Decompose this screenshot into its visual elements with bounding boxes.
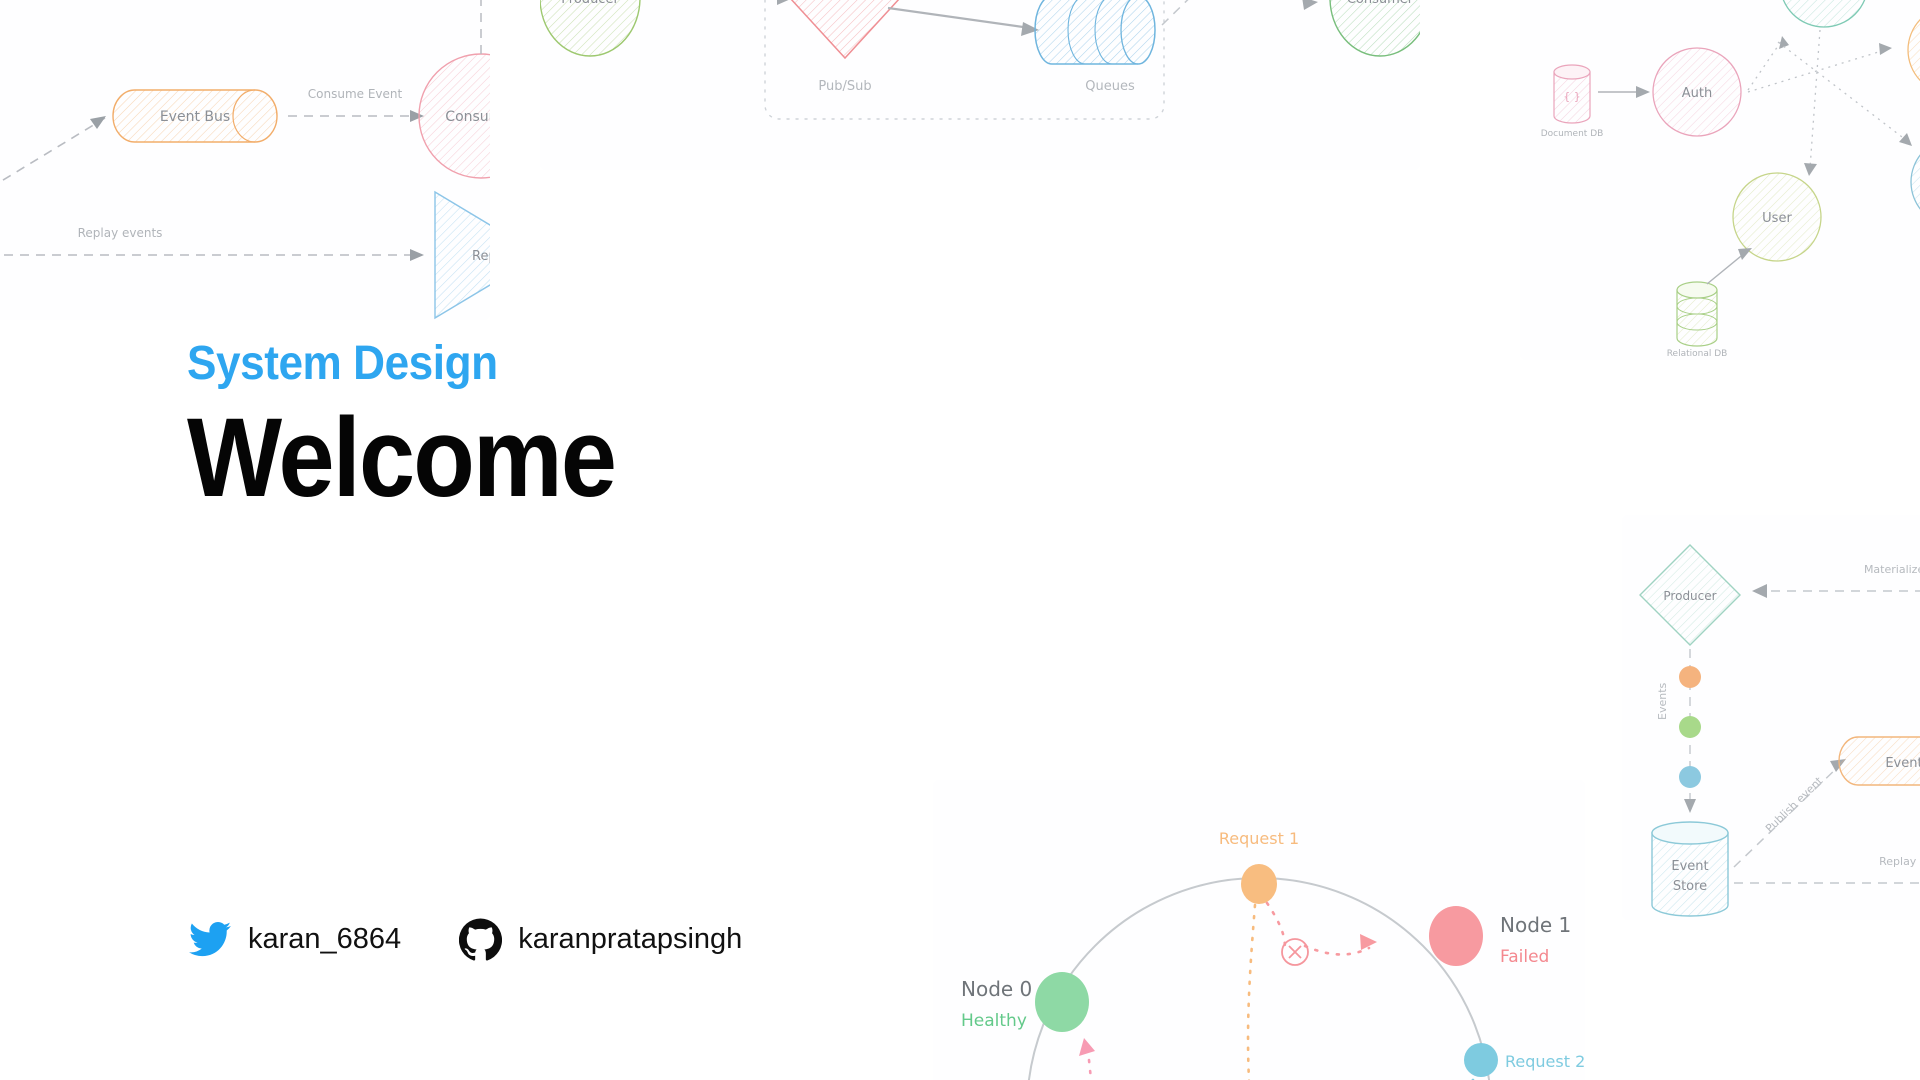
node-0-status: Healthy [961, 1011, 1027, 1031]
request-1-node: Request 1 [1219, 829, 1299, 904]
request-2-node: Request 2 [1464, 1043, 1585, 1077]
node-0: Node 0 Healthy [961, 972, 1089, 1032]
node-label-queues: Queues [1085, 79, 1135, 94]
edge-label-publish-event: Publish event [1763, 774, 1826, 835]
edge-label-events: Events [1656, 682, 1669, 720]
node-label-user: User [1762, 211, 1792, 226]
node-event-bus: Event Bus [113, 90, 277, 142]
db-document: { } Document DB [1541, 65, 1604, 139]
db-label-document: Document DB [1541, 129, 1604, 139]
node-label-pubsub: Pub/Sub [818, 79, 871, 94]
node-order: Order [1908, 6, 1920, 94]
node-replay: Replay [435, 192, 490, 318]
github-handle: karanpratapsingh [518, 925, 742, 954]
slide-canvas: Publish event Event Bus Consume Event Co… [0, 0, 1920, 1080]
node-label-event-store-line1: Event [1671, 859, 1708, 874]
node-producer: Producer [540, 0, 640, 56]
edge-label-replay-events: Replay events [1879, 855, 1920, 868]
edge-label-consume-event: Consume Event [308, 87, 403, 101]
twitter-handle: karan_6864 [248, 925, 401, 954]
pubsub-queues-diagram: Producer Pub/Sub [540, 0, 1420, 170]
node-label-event-bus: Event Bus [160, 109, 230, 125]
db-label-relational: Relational DB [1667, 349, 1728, 359]
request-2-label: Request 2 [1505, 1052, 1585, 1071]
edge-label-materialized-view: Materialized view [1864, 563, 1920, 576]
node-label-event-bus: Event Bus [1885, 756, 1920, 771]
node-label-producer: Producer [561, 0, 619, 7]
edge-label-replay-events: Replay events [78, 226, 163, 240]
failure-x-icon [1282, 939, 1308, 965]
event-sourcing-diagram: Producer Materialized view Events Event … [1622, 515, 1920, 920]
event-driven-diagram: Publish event Event Bus Consume Event Co… [0, 0, 490, 320]
node-auth: Auth [1653, 48, 1741, 136]
page-kicker: System Design [187, 340, 1015, 388]
node-0-label: Node 0 [961, 977, 1032, 1001]
node-1: Node 1 Failed [1429, 906, 1571, 967]
event-dot-2 [1679, 716, 1701, 738]
node-label-event-store-line2: Store [1673, 879, 1707, 894]
node-analytics: Analytics [1911, 138, 1920, 226]
hero-block: System Design Welcome [187, 340, 1087, 514]
node-user: User [1733, 173, 1821, 261]
node-label-producer: Producer [1663, 589, 1716, 603]
node-pubsub: Pub/Sub [790, 0, 900, 94]
node-label-consumer: Consumer [445, 109, 490, 125]
node-consumer: Consumer [1330, 0, 1420, 56]
node-label-auth: Auth [1682, 86, 1712, 101]
event-dot-1 [1679, 666, 1701, 688]
request-1-label: Request 1 [1219, 829, 1299, 848]
db-relational: Relational DB [1667, 282, 1728, 359]
twitter-icon [187, 916, 233, 962]
node-producer: Producer [1640, 545, 1740, 645]
page-title: Welcome [187, 402, 997, 514]
event-dot-3 [1679, 766, 1701, 788]
social-links: karan_6864 karanpratapsingh [187, 916, 742, 962]
twitter-link[interactable]: karan_6864 [187, 916, 401, 962]
consistent-hashing-diagram: Request 1 Node 1 Failed Node 0 Healthy R… [933, 780, 1585, 1080]
github-link[interactable]: karanpratapsingh [457, 916, 742, 962]
node-queue-bottom [1035, 0, 1155, 64]
node-1-status: Failed [1500, 947, 1549, 967]
node-product: Product [1780, 0, 1868, 27]
node-label-consumer: Consumer [1347, 0, 1414, 7]
node-1-label: Node 1 [1500, 913, 1571, 937]
db-glyph-document: { } [1563, 90, 1581, 103]
node-event-store: Event Store [1652, 822, 1728, 916]
node-label-replay: Replay [472, 249, 490, 264]
github-icon [457, 916, 503, 962]
microservices-databases-diagram: Product Order Auth User Analytics [1520, 0, 1920, 360]
node-event-bus: Event Bus [1839, 737, 1920, 785]
node-consumer: Consumer [419, 54, 490, 178]
